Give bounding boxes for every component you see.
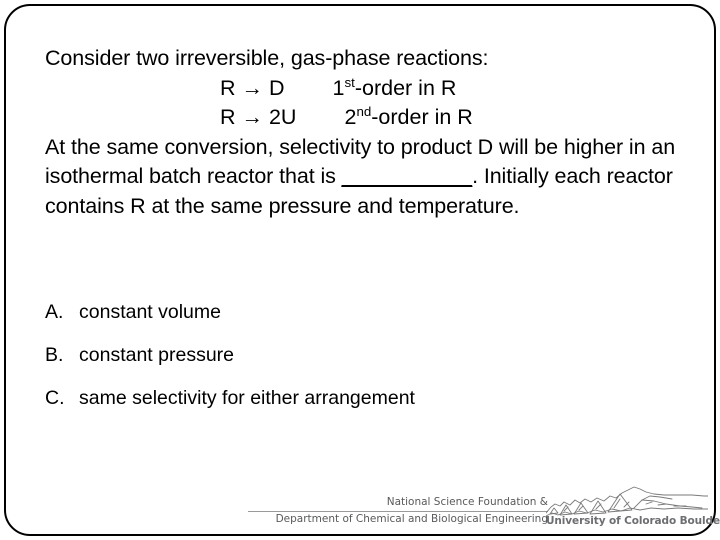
- flatirons-mountain-icon: [546, 482, 708, 518]
- reaction-order-text-1: -order in R: [355, 76, 457, 100]
- cu-boulder-wordmark: University of Colorado Boulder: [546, 515, 708, 527]
- answer-choice-a-label: constant volume: [79, 300, 221, 324]
- answer-choice-a[interactable]: A. constant volume: [45, 300, 685, 324]
- reaction-order-text-2: -order in R: [371, 105, 473, 129]
- reaction-row-2: R → 2U2nd-order in R: [45, 103, 685, 133]
- reaction-order-number-1: 1: [333, 76, 345, 100]
- reaction-row-1: R → D1st-order in R: [45, 74, 685, 104]
- question-block: Consider two irreversible, gas-phase rea…: [45, 44, 685, 221]
- question-prompt: At the same conversion, selectivity to p…: [45, 133, 685, 222]
- reaction-equation-1: R → D: [220, 76, 285, 100]
- footer-credit-line-1: National Science Foundation &: [248, 496, 548, 511]
- footer-credits: National Science Foundation & Department…: [248, 496, 548, 526]
- reaction-order-number-2: 2: [344, 105, 356, 129]
- cu-boulder-logo: University of Colorado Boulder: [546, 482, 708, 534]
- answer-choice-b-marker: B.: [45, 343, 79, 367]
- answer-choice-list: A. constant volume B. constant pressure …: [45, 300, 685, 429]
- slide-footer: National Science Foundation & Department…: [0, 482, 720, 540]
- answer-choice-c-marker: C.: [45, 386, 79, 410]
- answer-choice-c[interactable]: C. same selectivity for either arrangeme…: [45, 386, 685, 410]
- question-intro: Consider two irreversible, gas-phase rea…: [45, 44, 685, 74]
- slide: Consider two irreversible, gas-phase rea…: [0, 0, 720, 540]
- reaction-list: R → D1st-order in R R → 2U2nd-order in R: [45, 74, 685, 133]
- reaction-order-suffix-2: nd: [356, 104, 371, 119]
- answer-choice-c-label: same selectivity for either arrangement: [79, 386, 415, 410]
- footer-credit-line-2: Department of Chemical and Biological En…: [248, 512, 548, 527]
- reaction-equation-2: R → 2U: [220, 105, 296, 129]
- reaction-order-suffix-1: st: [344, 74, 354, 89]
- question-fill-in-blank: ___________: [342, 164, 472, 188]
- answer-choice-b-label: constant pressure: [79, 343, 234, 367]
- answer-choice-a-marker: A.: [45, 300, 79, 324]
- answer-choice-b[interactable]: B. constant pressure: [45, 343, 685, 367]
